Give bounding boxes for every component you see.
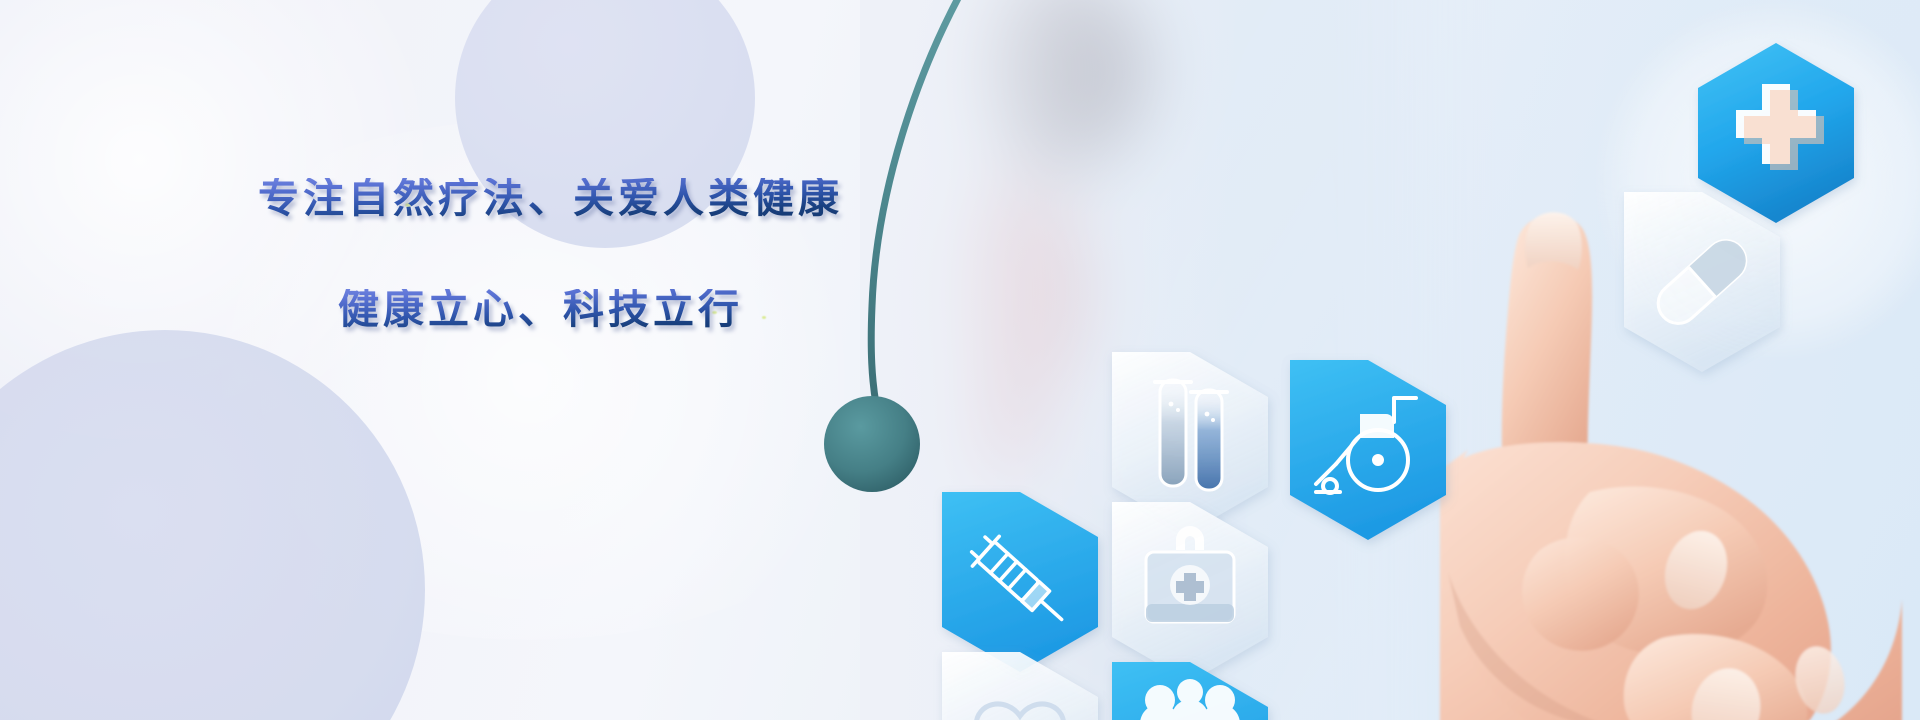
hex-syringe	[942, 492, 1098, 672]
hex-wheelchair	[1290, 360, 1446, 540]
hex-medical-cross	[1698, 43, 1854, 223]
hex-heartbeat	[942, 652, 1098, 720]
hero-banner: 专注自然疗法、关爱人类健康 健康立心、科技立行	[0, 0, 1920, 720]
hex-family-group	[1112, 662, 1268, 720]
headline-block: 专注自然疗法、关爱人类健康 健康立心、科技立行	[258, 178, 858, 330]
headline-line-1: 专注自然疗法、关爱人类健康	[258, 178, 858, 219]
headline-line-2: 健康立心、科技立行	[338, 289, 858, 330]
teal-arc-graphic	[820, 0, 1080, 500]
teal-arc-dot	[824, 396, 920, 492]
hex-first-aid-kit	[1112, 502, 1268, 682]
hex-pill-capsule	[1624, 192, 1780, 372]
teal-arc	[871, 0, 968, 404]
